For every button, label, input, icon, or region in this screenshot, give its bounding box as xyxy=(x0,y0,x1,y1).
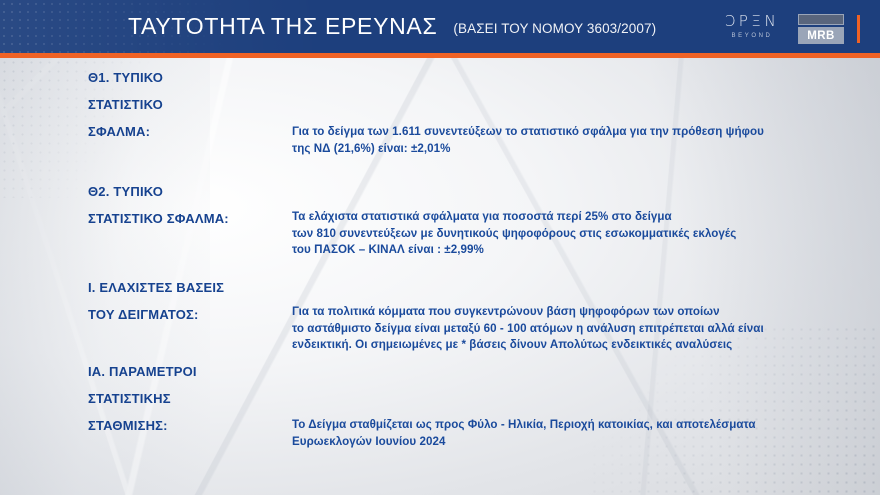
section-label: Ι. ΕΛΑΧΙΣΤΕΣ ΒΑΣΕΙΣ ΤΟΥ ΔΕΙΓΜΑΤΟΣ: xyxy=(88,274,288,328)
section-label: Θ1. ΤΥΠΙΚΟ ΣΤΑΤΙΣΤΙΚΟ ΣΦΑΛΜΑ: xyxy=(88,64,288,145)
section-label-line: Θ2. ΤΥΠΙΚΟ xyxy=(88,178,288,205)
section-body: Για τα πολιτικά κόμματα που συγκεντρώνου… xyxy=(292,304,862,354)
page-title: ΤΑΥΤΟΤΗΤΑ ΤΗΣ ΕΡΕΥΝΑΣ xyxy=(128,13,437,40)
mrb-logo-text: MRB xyxy=(798,27,844,44)
section-label-line: ΤΟΥ ΔΕΙΓΜΑΤΟΣ: xyxy=(88,301,288,328)
open-logo-subtext: BEYOND xyxy=(716,33,788,39)
section-body: Για το δείγμα των 1.611 συνεντεύξεων το … xyxy=(292,124,862,157)
section-label-line: ΙΑ. ΠΑΡΑΜΕΤΡΟΙ xyxy=(88,358,288,385)
section-label-line: Θ1. ΤΥΠΙΚΟ xyxy=(88,64,288,91)
slide-root: ΤΑΥΤΟΤΗΤΑ ΤΗΣ ΕΡΕΥΝΑΣ (ΒΑΣΕΙ ΤΟΥ ΝΟΜΟΥ 3… xyxy=(0,0,880,495)
section-label-line: Ι. ΕΛΑΧΙΣΤΕΣ ΒΑΣΕΙΣ xyxy=(88,274,288,301)
section-label-line: ΣΤΑΤΙΣΤΙΚΗΣ xyxy=(88,385,288,412)
header-title-group: ΤΑΥΤΟΤΗΤΑ ΤΗΣ ΕΡΕΥΝΑΣ (ΒΑΣΕΙ ΤΟΥ ΝΟΜΟΥ 3… xyxy=(128,0,656,53)
section-body-line: της ΝΔ (21,6%) είναι: ±2,01% xyxy=(292,141,862,158)
content-area: Θ1. ΤΥΠΙΚΟ ΣΤΑΤΙΣΤΙΚΟ ΣΦΑΛΜΑ: Για το δεί… xyxy=(0,58,880,495)
section-body-line: ενδεικτική. Οι σημειωμένες με * βάσεις δ… xyxy=(292,337,862,354)
section-body-line: το αστάθμιστο δείγμα είναι μεταξύ 60 - 1… xyxy=(292,321,862,338)
section-label-line: ΣΤΑΤΙΣΤΙΚΟ xyxy=(88,91,288,118)
open-beyond-logo: ƆPΞN BEYOND xyxy=(716,14,788,39)
mrb-logo: MRB xyxy=(798,14,844,44)
section-body-line: Τα ελάχιστα στατιστικά σφάλματα για ποσο… xyxy=(292,209,862,226)
orange-tick-mark xyxy=(857,15,860,43)
header-bar: ΤΑΥΤΟΤΗΤΑ ΤΗΣ ΕΡΕΥΝΑΣ (ΒΑΣΕΙ ΤΟΥ ΝΟΜΟΥ 3… xyxy=(0,0,880,53)
section-label-line: ΣΤΑΤΙΣΤΙΚΟ ΣΦΑΛΜΑ: xyxy=(88,205,288,232)
section-body-line: του ΠΑΣΟΚ – ΚΙΝΑΛ είναι : ±2,99% xyxy=(292,242,862,259)
open-logo-mark: ƆPΞN xyxy=(716,14,788,29)
section-label: ΙΑ. ΠΑΡΑΜΕΤΡΟΙ ΣΤΑΤΙΣΤΙΚΗΣ ΣΤΑΘΜΙΣΗΣ: xyxy=(88,358,288,439)
section-body-line: Για το δείγμα των 1.611 συνεντεύξεων το … xyxy=(292,124,862,141)
section-body-line: των 810 συνεντεύξεων με δυνητικούς ψηφοφ… xyxy=(292,226,862,243)
section-label-line: ΣΦΑΛΜΑ: xyxy=(88,118,288,145)
section-label: Θ2. ΤΥΠΙΚΟ ΣΤΑΤΙΣΤΙΚΟ ΣΦΑΛΜΑ: xyxy=(88,178,288,232)
page-subtitle: (ΒΑΣΕΙ ΤΟΥ ΝΟΜΟΥ 3603/2007) xyxy=(453,17,656,36)
section-body-line: Ευρωεκλογών Ιουνίου 2024 xyxy=(292,434,862,451)
section-body-line: Για τα πολιτικά κόμματα που συγκεντρώνου… xyxy=(292,304,862,321)
section-label-line: ΣΤΑΘΜΙΣΗΣ: xyxy=(88,412,288,439)
section-body-line: Το Δείγμα σταθμίζεται ως προς Φύλο - Ηλι… xyxy=(292,417,862,434)
mrb-logo-bar xyxy=(798,14,844,25)
section-body: Τα ελάχιστα στατιστικά σφάλματα για ποσο… xyxy=(292,209,862,259)
section-body: Το Δείγμα σταθμίζεται ως προς Φύλο - Ηλι… xyxy=(292,417,862,450)
